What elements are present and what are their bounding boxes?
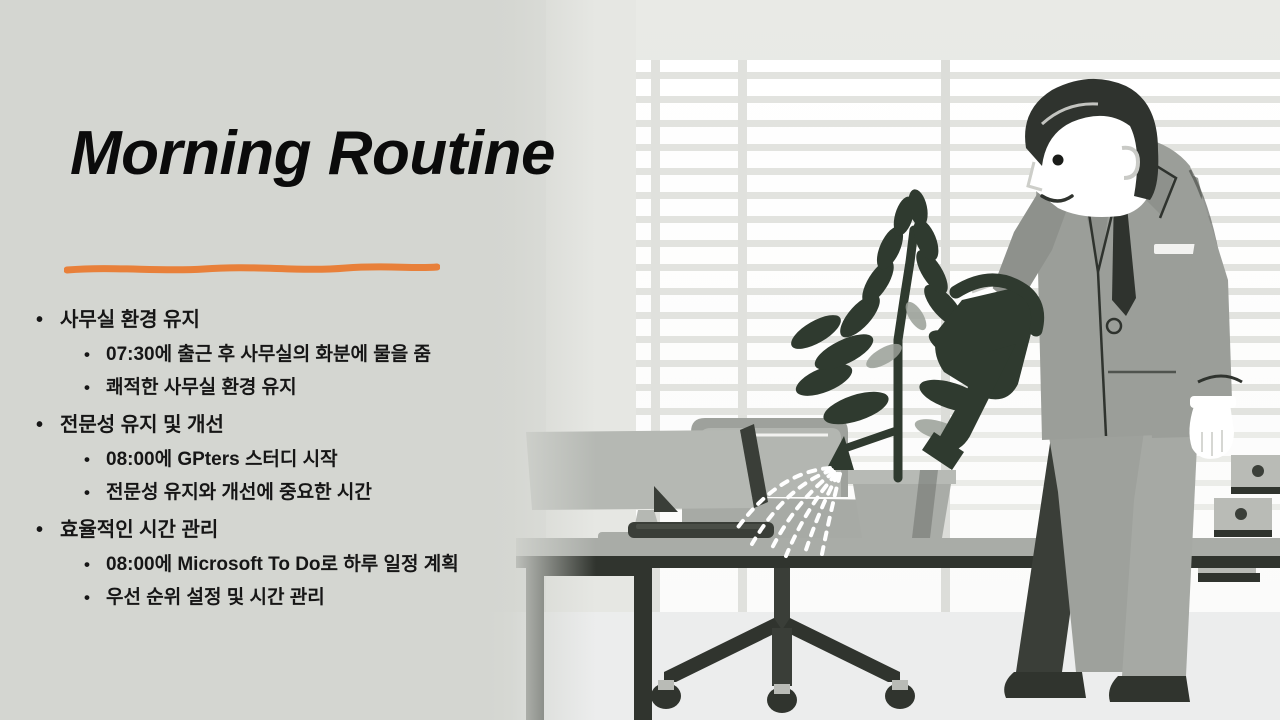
bullet-list: • 사무실 환경 유지 • 07:30에 출근 후 사무실의 화분에 물을 줌 …	[0, 303, 560, 618]
text-content-pane: Morning Routine • 사무실 환경 유지 • 07:30에 출근 …	[0, 0, 560, 720]
bullet-marker-icon: •	[84, 371, 106, 404]
illustration-svg	[486, 0, 1280, 720]
bullet-text: 효율적인 시간 관리	[60, 513, 560, 547]
shelf-unit	[1231, 455, 1280, 494]
title-underline-accent	[64, 258, 440, 278]
pocket-square	[1154, 244, 1196, 254]
bullet-item-level1: • 효율적인 시간 관리	[0, 513, 560, 547]
bullet-item-level2: • 08:00에 Microsoft To Do로 하루 일정 계획	[0, 548, 560, 581]
bullet-text: 전문성 유지 및 개선	[60, 408, 560, 442]
bullet-text: 전문성 유지와 개선에 중요한 시간	[106, 476, 560, 509]
shoe	[1109, 676, 1190, 702]
slide-canvas: Morning Routine • 사무실 환경 유지 • 07:30에 출근 …	[0, 0, 1280, 720]
bullet-group: • 효율적인 시간 관리 • 08:00에 Microsoft To Do로 하…	[0, 513, 560, 614]
bullet-marker-icon: •	[36, 408, 60, 442]
bullet-marker-icon: •	[84, 338, 106, 371]
bullet-text: 08:00에 GPters 스터디 시작	[106, 443, 560, 476]
bullet-item-level2: • 07:30에 출근 후 사무실의 화분에 물을 줌	[0, 338, 560, 371]
bullet-text: 쾌적한 사무실 환경 유지	[106, 371, 560, 404]
bullet-item-level1: • 사무실 환경 유지	[0, 303, 560, 337]
bullet-item-level2: • 우선 순위 설정 및 시간 관리	[0, 581, 560, 614]
eye	[1053, 155, 1064, 166]
bullet-group: • 전문성 유지 및 개선 • 08:00에 GPters 스터디 시작 • 전…	[0, 408, 560, 509]
bullet-marker-icon: •	[84, 548, 106, 581]
bullet-item-level1: • 전문성 유지 및 개선	[0, 408, 560, 442]
keyboard	[628, 522, 774, 538]
bullet-text: 07:30에 출근 후 사무실의 화분에 물을 줌	[106, 338, 560, 371]
bullet-item-level2: • 쾌적한 사무실 환경 유지	[0, 371, 560, 404]
desk-leg	[634, 568, 652, 720]
plant-pot	[852, 478, 952, 538]
shelf-unit	[1214, 498, 1272, 537]
bullet-text: 08:00에 Microsoft To Do로 하루 일정 계획	[106, 548, 560, 581]
bullet-marker-icon: •	[36, 513, 60, 547]
shirt-cuff	[1190, 396, 1236, 408]
bullet-group: • 사무실 환경 유지 • 07:30에 출근 후 사무실의 화분에 물을 줌 …	[0, 303, 560, 404]
bullet-marker-icon: •	[84, 581, 106, 614]
bullet-text: 사무실 환경 유지	[60, 303, 560, 337]
bullet-marker-icon: •	[84, 476, 106, 509]
bullet-text: 우선 순위 설정 및 시간 관리	[106, 581, 560, 614]
bullet-marker-icon: •	[84, 443, 106, 476]
bullet-item-level2: • 전문성 유지와 개선에 중요한 시간	[0, 476, 560, 509]
office-illustration	[486, 0, 1280, 720]
shoe	[1004, 672, 1086, 698]
bullet-item-level2: • 08:00에 GPters 스터디 시작	[0, 443, 560, 476]
bullet-marker-icon: •	[36, 303, 60, 337]
page-title: Morning Routine	[70, 118, 555, 189]
